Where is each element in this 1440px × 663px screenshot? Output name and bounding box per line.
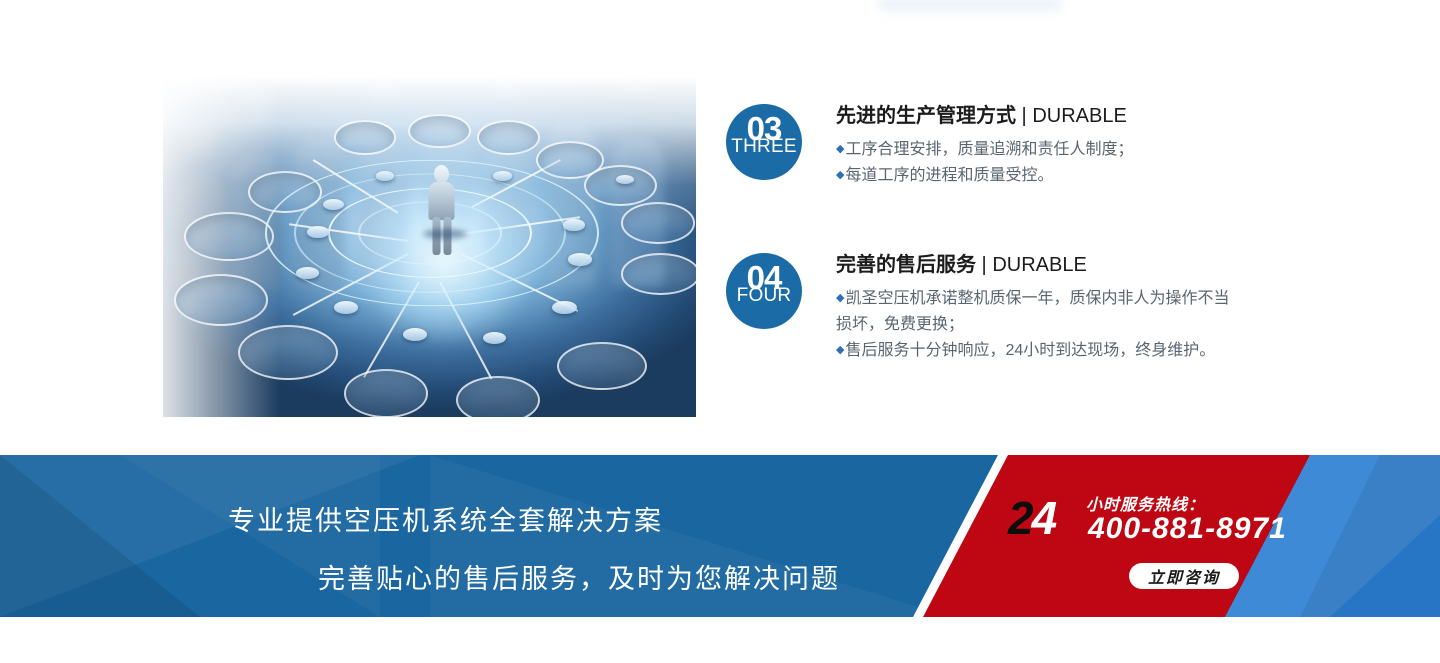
feature-badge-03: 03 THREE [726,104,802,180]
node-ring [344,369,428,417]
top-edge-smudge [880,0,1060,14]
feature-line-text: 工序合理安排，质量追溯和责任人制度； [845,141,1133,158]
hotline-digit-two: 2 [1008,492,1032,544]
feature-line: ◆每道工序的进程和质量受控。 [836,163,1286,189]
node-ring [557,342,646,390]
central-human-figure [428,165,455,255]
bottom-cta-banner: 专业提供空压机系统全套解决方案 完善贴心的售后服务，及时为您解决问题 24 小时… [0,455,1440,617]
banner-headline-secondary: 完善贴心的售后服务，及时为您解决问题 [318,557,840,596]
feature-item-04: 04 FOUR 完善的售后服务 | DURABLE ◆凯圣空压机承诺整机质保一年… [726,253,1286,364]
node-dot [296,267,318,279]
feature-title-cn: 先进的生产管理方式 [836,105,1016,127]
feature-title-cn: 完善的售后服务 [836,254,976,276]
node-ring [456,376,540,417]
node-ring [174,274,269,326]
badge-word: FOUR [726,286,802,305]
hotline-phone-number[interactable]: 400-881-8971 [1088,512,1287,546]
feature-description: ◆凯圣空压机承诺整机质保一年，质保内非人为操作不当损坏，免费更换； ◆售后服务十… [836,286,1286,364]
feature-title-separator: | [976,254,992,276]
node-dot [568,253,591,265]
network-concept-image [163,76,696,417]
feature-description: ◆工序合理安排，质量追溯和责任人制度； ◆每道工序的进程和质量受控。 [836,137,1286,189]
node-dot [307,226,329,238]
feature-title-en: DURABLE [1032,105,1126,127]
node-dot [552,301,577,314]
feature-title-separator: | [1016,105,1032,127]
node-ring [184,212,273,260]
feature-item-03: 03 THREE 先进的生产管理方式 | DURABLE ◆工序合理安排，质量追… [726,104,1286,189]
feature-title-en: DURABLE [992,254,1086,276]
diamond-bullet-icon: ◆ [836,143,844,155]
feature-line: ◆售后服务十分钟响应，24小时到达现场，终身维护。 [836,338,1236,364]
feature-list: 03 THREE 先进的生产管理方式 | DURABLE ◆工序合理安排，质量追… [726,104,1286,428]
feature-line: ◆凯圣空压机承诺整机质保一年，质保内非人为操作不当损坏，免费更换； [836,286,1236,338]
diamond-bullet-icon: ◆ [836,292,844,304]
node-dot [563,219,585,231]
banner-headlines: 专业提供空压机系统全套解决方案 完善贴心的售后服务，及时为您解决问题 [0,455,900,617]
diamond-bullet-icon: ◆ [836,344,844,356]
diamond-bullet-icon: ◆ [836,169,844,181]
node-dot [493,171,511,181]
feature-line: ◆工序合理安排，质量追溯和责任人制度； [836,137,1286,163]
feature-badge-04: 04 FOUR [726,253,802,329]
node-dot [334,301,359,314]
consult-now-button[interactable]: 立即咨询 [1129,563,1239,589]
banner-headline-primary: 专业提供空压机系统全套解决方案 [228,499,663,538]
feature-line-text: 凯圣空压机承诺整机质保一年，质保内非人为操作不当损坏，免费更换； [836,290,1229,333]
node-ring [477,120,540,155]
node-dot [483,332,506,344]
node-dot [323,199,344,210]
feature-line-text: 每道工序的进程和质量受控。 [845,167,1053,184]
node-ring [621,253,696,295]
hotline-24-logo: 24 [1008,495,1055,541]
feature-line-text: 售后服务十分钟响应，24小时到达现场，终身维护。 [845,342,1215,359]
node-ring [408,114,471,149]
node-ring [238,325,338,380]
badge-word: THREE [726,137,802,156]
hotline-block: 24 小时服务热线： 400-881-8971 立即咨询 [1000,455,1320,617]
feature-title: 先进的生产管理方式 | DURABLE [836,104,1286,129]
node-ring [584,165,657,207]
node-ring [621,202,694,244]
feature-title: 完善的售后服务 | DURABLE [836,253,1286,278]
node-ring [334,120,397,155]
hotline-digit-four: 4 [1032,492,1056,544]
